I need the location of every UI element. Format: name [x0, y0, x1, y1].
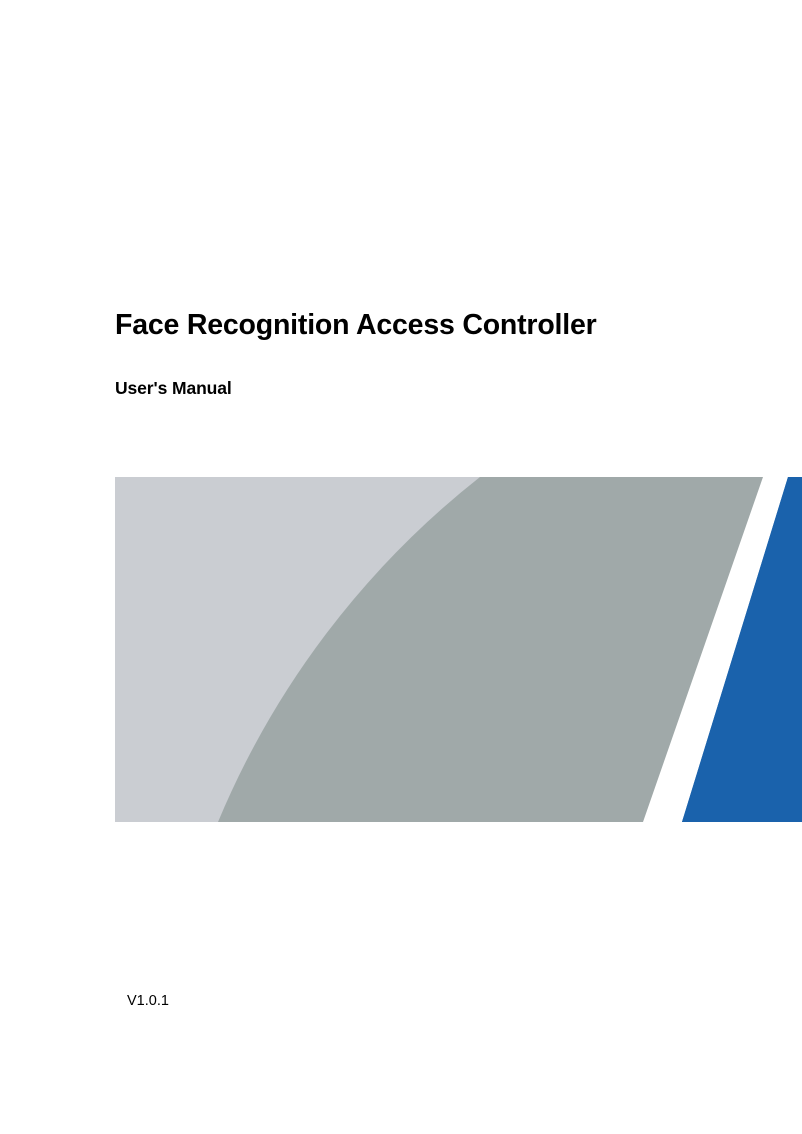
- document-version: V1.0.1: [127, 991, 169, 1011]
- version-block: V1.0.1: [127, 991, 169, 1011]
- document-cover-page: Face Recognition Access Controller User'…: [0, 0, 802, 1134]
- page-subtitle: User's Manual: [115, 345, 755, 400]
- page-title: Face Recognition Access Controller: [115, 305, 755, 345]
- cover-banner-graphic: [115, 477, 802, 822]
- title-block: Face Recognition Access Controller User'…: [115, 305, 755, 400]
